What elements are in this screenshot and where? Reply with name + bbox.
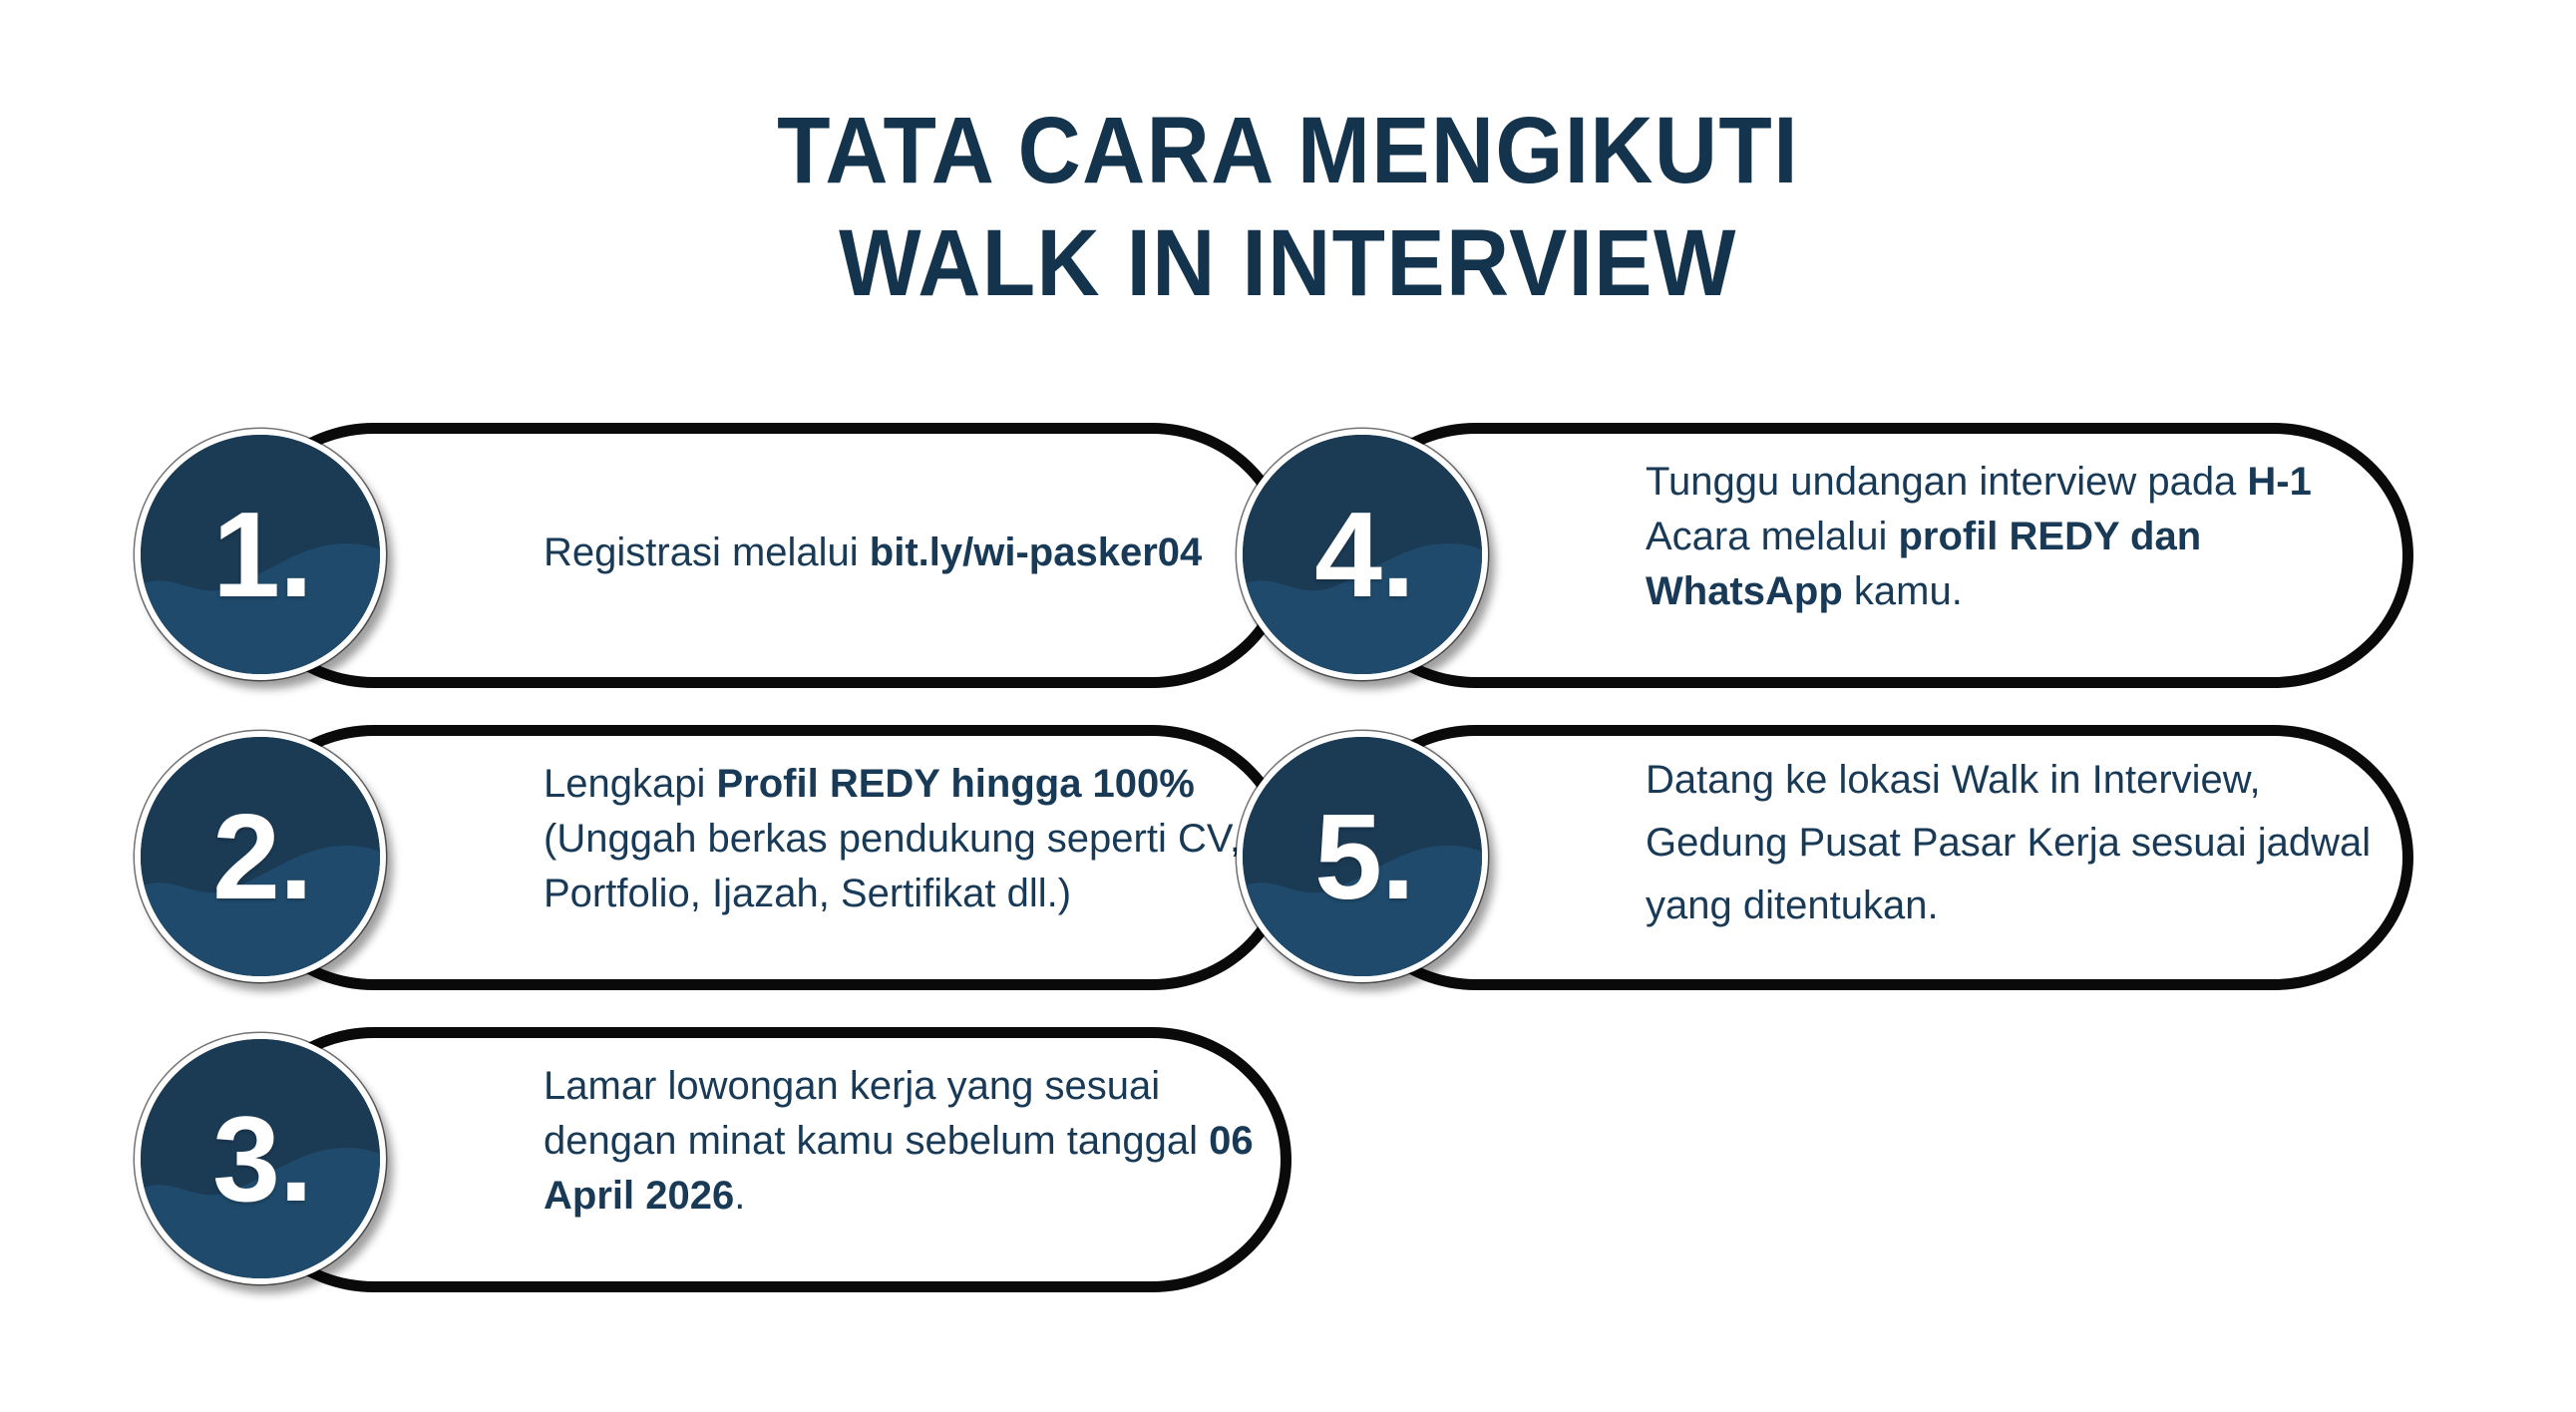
step-text-4: Tunggu undangan interview pada H-1 Acara… <box>1646 455 2384 619</box>
step-number-badge-1: 1. <box>135 429 386 680</box>
step-text-segment: . <box>734 1174 745 1218</box>
step-card-3[interactable]: 3. Lamar lowongan kerja yang sesuai deng… <box>234 1027 1291 1292</box>
step-card-2[interactable]: 2. Lengkapi Profil REDY hingga 100% (Ung… <box>234 725 1291 990</box>
step-text-segment: Lamar lowongan kerja yang sesuai dengan … <box>544 1064 1209 1163</box>
step-text-segment-bold: H-1 <box>2247 460 2311 504</box>
step-text-segment: kamu. <box>1843 569 1963 613</box>
step-text-1: Registrasi melalui bit.ly/wi-pasker04 <box>544 526 1262 579</box>
step-text-3: Lamar lowongan kerja yang sesuai dengan … <box>544 1059 1262 1224</box>
step-text-segment: Lengkapi <box>544 762 716 806</box>
steps-board: 1. Registrasi melalui bit.ly/wi-pasker04… <box>0 0 2576 1412</box>
step-number-badge-2: 2. <box>135 731 386 982</box>
step-number-label-4: 4. <box>1243 435 1482 674</box>
step-text-5: Datang ke lokasi Walk in Interview, Gedu… <box>1646 749 2413 937</box>
step-text-segment: Datang ke lokasi Walk in Interview, Gedu… <box>1646 758 2371 927</box>
step-number-label-5: 5. <box>1243 737 1482 976</box>
step-text-segment: Tunggu undangan interview pada <box>1646 460 2247 504</box>
step-card-1[interactable]: 1. Registrasi melalui bit.ly/wi-pasker04 <box>234 423 1291 688</box>
step-card-4[interactable]: 4. Tunggu undangan interview pada H-1 Ac… <box>1336 423 2413 688</box>
step-text-segment: Registrasi melalui <box>544 530 870 574</box>
step-number-badge-3: 3. <box>135 1033 386 1284</box>
step-card-5[interactable]: 5. Datang ke lokasi Walk in Interview, G… <box>1336 725 2413 990</box>
step-text-2: Lengkapi Profil REDY hingga 100% (Unggah… <box>544 757 1282 921</box>
step-number-badge-4: 4. <box>1237 429 1488 680</box>
step-number-label-1: 1. <box>141 435 380 674</box>
step-text-segment-bold: bit.ly/wi-pasker04 <box>870 530 1202 574</box>
step-number-label-2: 2. <box>141 737 380 976</box>
step-text-segment-bold: Profil REDY hingga 100% <box>716 762 1194 806</box>
step-number-label-3: 3. <box>141 1039 380 1278</box>
step-text-segment: (Unggah berkas pendukung seperti CV, Por… <box>544 817 1241 915</box>
step-number-badge-5: 5. <box>1237 731 1488 982</box>
step-text-segment: Acara melalui <box>1646 515 1898 558</box>
